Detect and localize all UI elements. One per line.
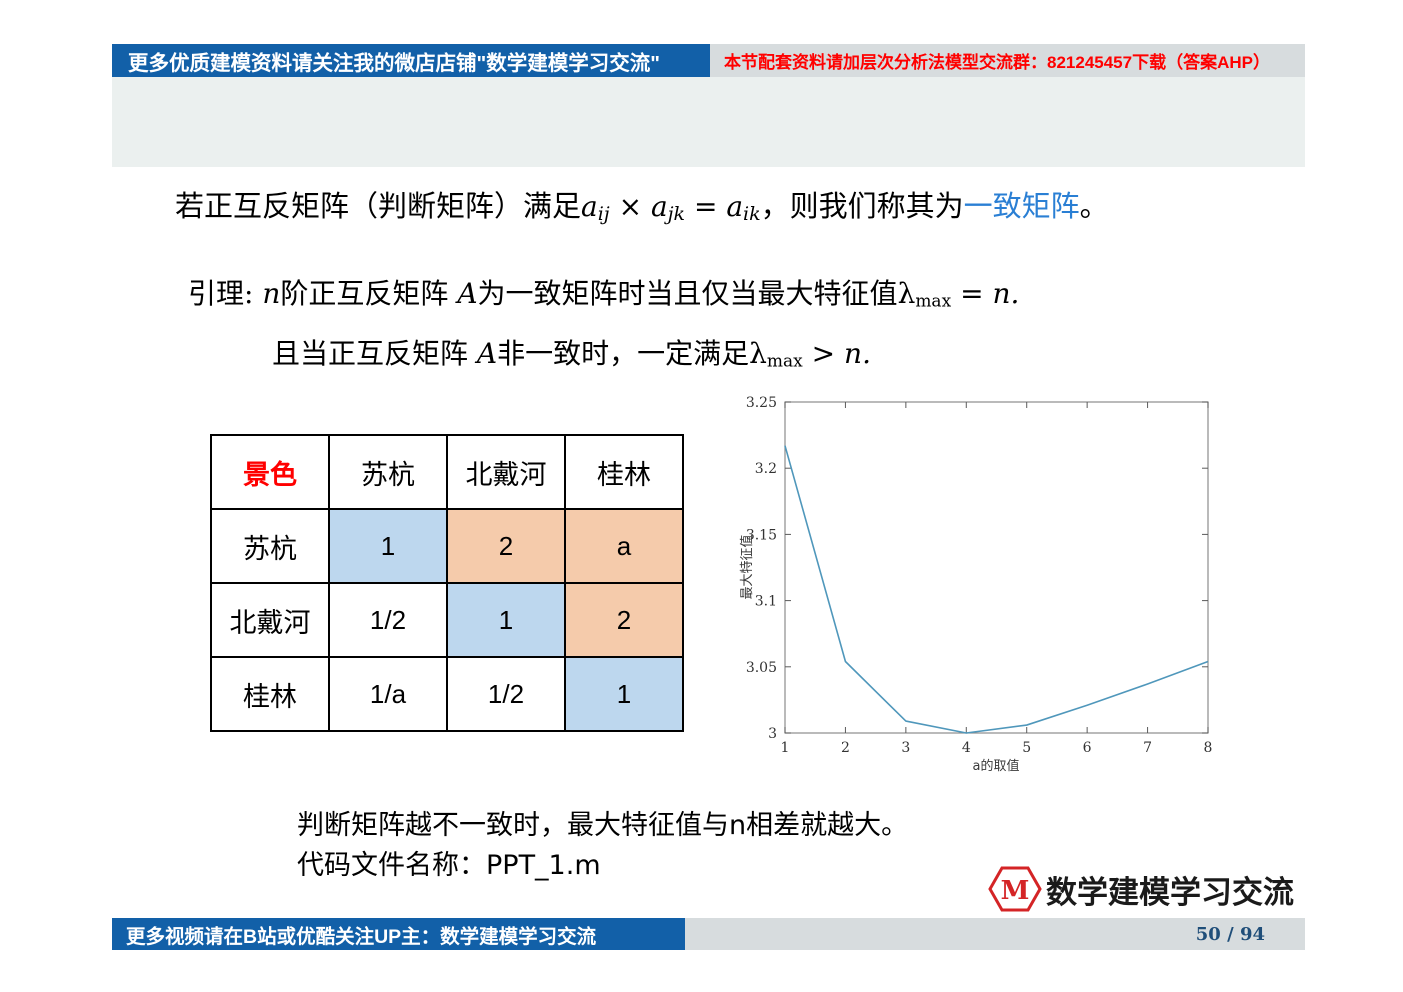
table-cell-0-0: 1 <box>329 509 447 583</box>
chart-x-tick-label: 6 <box>1083 740 1092 756</box>
lemma-lambda-max: λmax <box>898 277 952 310</box>
slide-canvas: 更多优质建模资料请关注我的微店店铺"数学建模学习交流" 本节配套资料请加层次分析… <box>0 0 1403 992</box>
top-banner-right-text: 本节配套资料请加层次分析法模型交流群：821245457下载（答案AHP） <box>710 44 1305 77</box>
definition-highlight: 一致矩阵 <box>964 189 1080 223</box>
hexagon-m-icon: M <box>988 862 1042 916</box>
table-row-header-1: 北戴河 <box>211 583 329 657</box>
table-cell-0-1: 2 <box>447 509 565 583</box>
lemma2-var-A: A <box>477 337 497 370</box>
table-cell-2-0: 1/a <box>329 657 447 731</box>
table-cell-1-2: 2 <box>565 583 683 657</box>
formula-times: × <box>610 190 651 223</box>
formula-a-ij: aij <box>581 190 610 223</box>
lemma-text-1: 阶正互反矩阵 <box>280 277 448 310</box>
page-indicator: 50 / 94 <box>685 918 1305 950</box>
chart-x-tick-label: 2 <box>841 740 850 756</box>
chart-y-tick-label: 3.2 <box>755 461 777 477</box>
table-row-header-2: 桂林 <box>211 657 329 731</box>
table-cell-0-2: a <box>565 509 683 583</box>
table-col-header-2: 桂林 <box>565 435 683 509</box>
chart-x-axis-label: a的取值 <box>973 758 1020 774</box>
lemma-equals: = <box>960 277 983 310</box>
definition-text-part2: ，则我们称其为 <box>761 189 964 223</box>
chart-x-tick-label: 4 <box>962 740 971 756</box>
lemma-block: 引理: n阶正互反矩阵 A为一致矩阵时当且仅当最大特征值λmax = n. 且当… <box>188 272 1019 372</box>
table-row: 苏杭 1 2 a <box>211 509 683 583</box>
lemma2-greater-than: > <box>812 337 835 370</box>
conclusion-text: 判断矩阵越不一致时，最大特征值与n相差就越大。 代码文件名称：PPT_1.m <box>297 806 908 886</box>
table-header-row: 景色 苏杭 北戴河 桂林 <box>211 435 683 509</box>
table-cell-1-0: 1/2 <box>329 583 447 657</box>
definition-text-part1: 若正互反矩阵（判断矩阵）满足 <box>175 189 581 223</box>
brand-logo: M 数学建模学习交流 <box>988 862 1294 916</box>
chart-x-tick-label: 5 <box>1022 740 1031 756</box>
logo-letter: M <box>1001 876 1030 906</box>
brand-logo-text: 数学建模学习交流 <box>1046 867 1294 912</box>
chart-x-tick-label: 1 <box>781 740 790 756</box>
definition-period: 。 <box>1080 189 1109 223</box>
lemma2-lambda-max: λmax <box>749 337 803 370</box>
formula-equals: = <box>685 190 726 223</box>
chart-y-tick-label: 3 <box>768 726 777 742</box>
table-cell-2-1: 1/2 <box>447 657 565 731</box>
table-col-header-0: 苏杭 <box>329 435 447 509</box>
lemma-line-1: 引理: n阶正互反矩阵 A为一致矩阵时当且仅当最大特征值λmax = n. <box>188 272 1019 312</box>
chart-x-tick-label: 8 <box>1204 740 1213 756</box>
lemma2-text-2: 非一致时，一定满足 <box>497 337 749 370</box>
lemma-var-n: n <box>262 277 280 310</box>
definition-line: 若正互反矩阵（判断矩阵）满足aij × ajk = aik，则我们称其为一致矩阵… <box>175 183 1109 225</box>
lemma2-rhs-n: n. <box>844 337 871 370</box>
table-body: 景色 苏杭 北戴河 桂林 苏杭 1 2 a 北戴河 1/2 1 2 桂林 1/a… <box>211 435 683 731</box>
table-row: 北戴河 1/2 1 2 <box>211 583 683 657</box>
chart-y-axis-label: 最大特征值 <box>739 534 755 599</box>
title-placeholder <box>112 77 1305 167</box>
table-cell-2-2: 1 <box>565 657 683 731</box>
footer-banner: 更多视频请在B站或优酷关注UP主：数学建模学习交流 50 / 94 <box>112 918 1305 950</box>
lemma-rhs-n: n. <box>992 277 1019 310</box>
table-corner-label: 景色 <box>211 435 329 509</box>
chart-y-tick-label: 3.1 <box>755 594 777 610</box>
top-banner-left-text: 更多优质建模资料请关注我的微店店铺"数学建模学习交流" <box>112 44 710 77</box>
formula-a-ik: aik <box>726 190 760 223</box>
table-cell-1-1: 1 <box>447 583 565 657</box>
lemma-label: 引理: <box>188 277 253 310</box>
chart-x-tick-label: 7 <box>1143 740 1152 756</box>
judgment-matrix-table: 景色 苏杭 北戴河 桂林 苏杭 1 2 a 北戴河 1/2 1 2 桂林 1/a… <box>210 434 684 732</box>
table-col-header-1: 北戴河 <box>447 435 565 509</box>
table-row: 桂林 1/a 1/2 1 <box>211 657 683 731</box>
chart-x-tick-label: 3 <box>901 740 910 756</box>
formula-a-jk: ajk <box>651 190 685 223</box>
chart-y-tick-label: 3.05 <box>746 660 777 676</box>
chart-plot-frame <box>785 402 1208 733</box>
lemma-var-A: A <box>457 277 477 310</box>
lemma-line-2: 且当正互反矩阵 A非一致时，一定满足λmax > n. <box>272 332 1019 372</box>
chart-y-tick-label: 3.25 <box>746 395 777 411</box>
conclusion-line-2: 代码文件名称：PPT_1.m <box>297 846 908 886</box>
footer-left-text: 更多视频请在B站或优酷关注UP主：数学建模学习交流 <box>112 918 685 950</box>
table-row-header-0: 苏杭 <box>211 509 329 583</box>
chart-svg: 33.053.13.153.23.25 12345678 a的取值 最大特征值 <box>737 392 1215 782</box>
eigenvalue-chart: 33.053.13.153.23.25 12345678 a的取值 最大特征值 <box>737 392 1215 782</box>
top-banner: 更多优质建模资料请关注我的微店店铺"数学建模学习交流" 本节配套资料请加层次分析… <box>112 44 1305 77</box>
lemma2-text-1: 且当正互反矩阵 <box>272 337 468 370</box>
conclusion-line-1: 判断矩阵越不一致时，最大特征值与n相差就越大。 <box>297 806 908 846</box>
lemma-text-2: 为一致矩阵时当且仅当最大特征值 <box>478 277 898 310</box>
